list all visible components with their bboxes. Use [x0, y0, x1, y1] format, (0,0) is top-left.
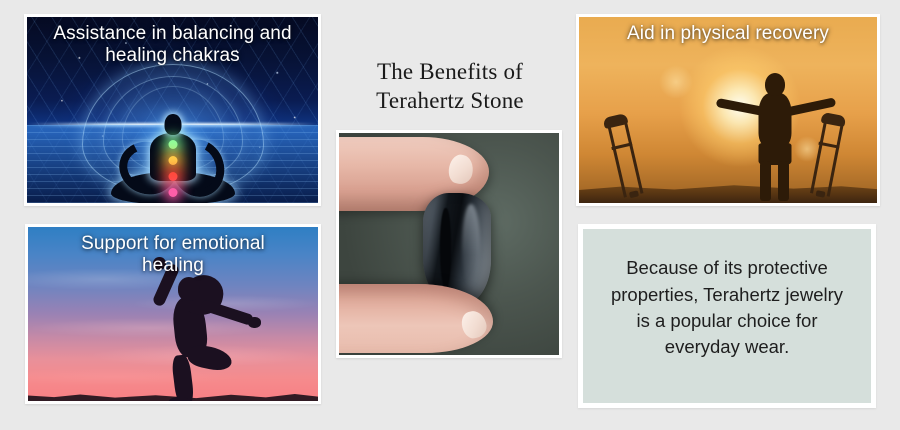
note-text: Because of its protective properties, Te…: [603, 255, 851, 360]
chakra-point-magenta: [168, 188, 177, 197]
stone-highlight: [462, 204, 480, 288]
caption-line-2: healing chakras: [37, 45, 308, 67]
panel-emotional-healing[interactable]: Support for emotional healing: [25, 224, 321, 404]
physical-recovery-image: Aid in physical recovery: [579, 17, 877, 203]
man-leg-left: [760, 161, 771, 201]
jumper-head: [178, 277, 200, 301]
infographic-canvas: Assistance in balancing and healing chak…: [0, 0, 900, 430]
note-box[interactable]: Because of its protective properties, Te…: [578, 224, 876, 408]
chakra-point-red: [168, 172, 177, 181]
jumper-leg-tucked: [186, 342, 234, 373]
panel-chakra[interactable]: Assistance in balancing and healing chak…: [24, 14, 321, 206]
meditating-figure-icon: [97, 114, 249, 203]
caption-line-1: Assistance in balancing and: [37, 23, 308, 45]
panel-chakra-caption: Assistance in balancing and healing chak…: [27, 23, 318, 68]
note-box-inner: Because of its protective properties, Te…: [583, 229, 871, 403]
caption-line-1: Aid in physical recovery: [589, 23, 867, 45]
panel-emotional-caption: Support for emotional healing: [28, 233, 318, 278]
standing-man-icon: [710, 73, 840, 201]
man-head: [765, 73, 785, 96]
caption-line-2: healing: [38, 255, 308, 277]
jumper-arm-extended: [200, 299, 255, 326]
chakra-point-yellow: [168, 156, 177, 165]
jumper-hand-extended: [248, 317, 261, 328]
emotional-healing-image: Support for emotional healing: [28, 227, 318, 401]
chakra-point-green: [168, 140, 177, 149]
page-title-line-1: The Benefits of: [332, 58, 568, 87]
page-title: The Benefits of Terahertz Stone: [332, 58, 568, 116]
chakra-image: Assistance in balancing and healing chak…: [27, 17, 318, 203]
man-torso: [759, 93, 792, 147]
stone-in-hand-image: [339, 133, 559, 355]
jumper-foot: [168, 397, 190, 401]
man-leg-right: [778, 161, 789, 201]
stone-crevice: [440, 208, 451, 288]
caption-line-1: Support for emotional: [38, 233, 308, 255]
figure-head: [164, 114, 181, 135]
panel-physical-recovery[interactable]: Aid in physical recovery: [576, 14, 880, 206]
page-title-line-2: Terahertz Stone: [332, 87, 568, 116]
panel-terahertz-stone-photo[interactable]: [336, 130, 562, 358]
panel-recovery-caption: Aid in physical recovery: [579, 23, 877, 45]
